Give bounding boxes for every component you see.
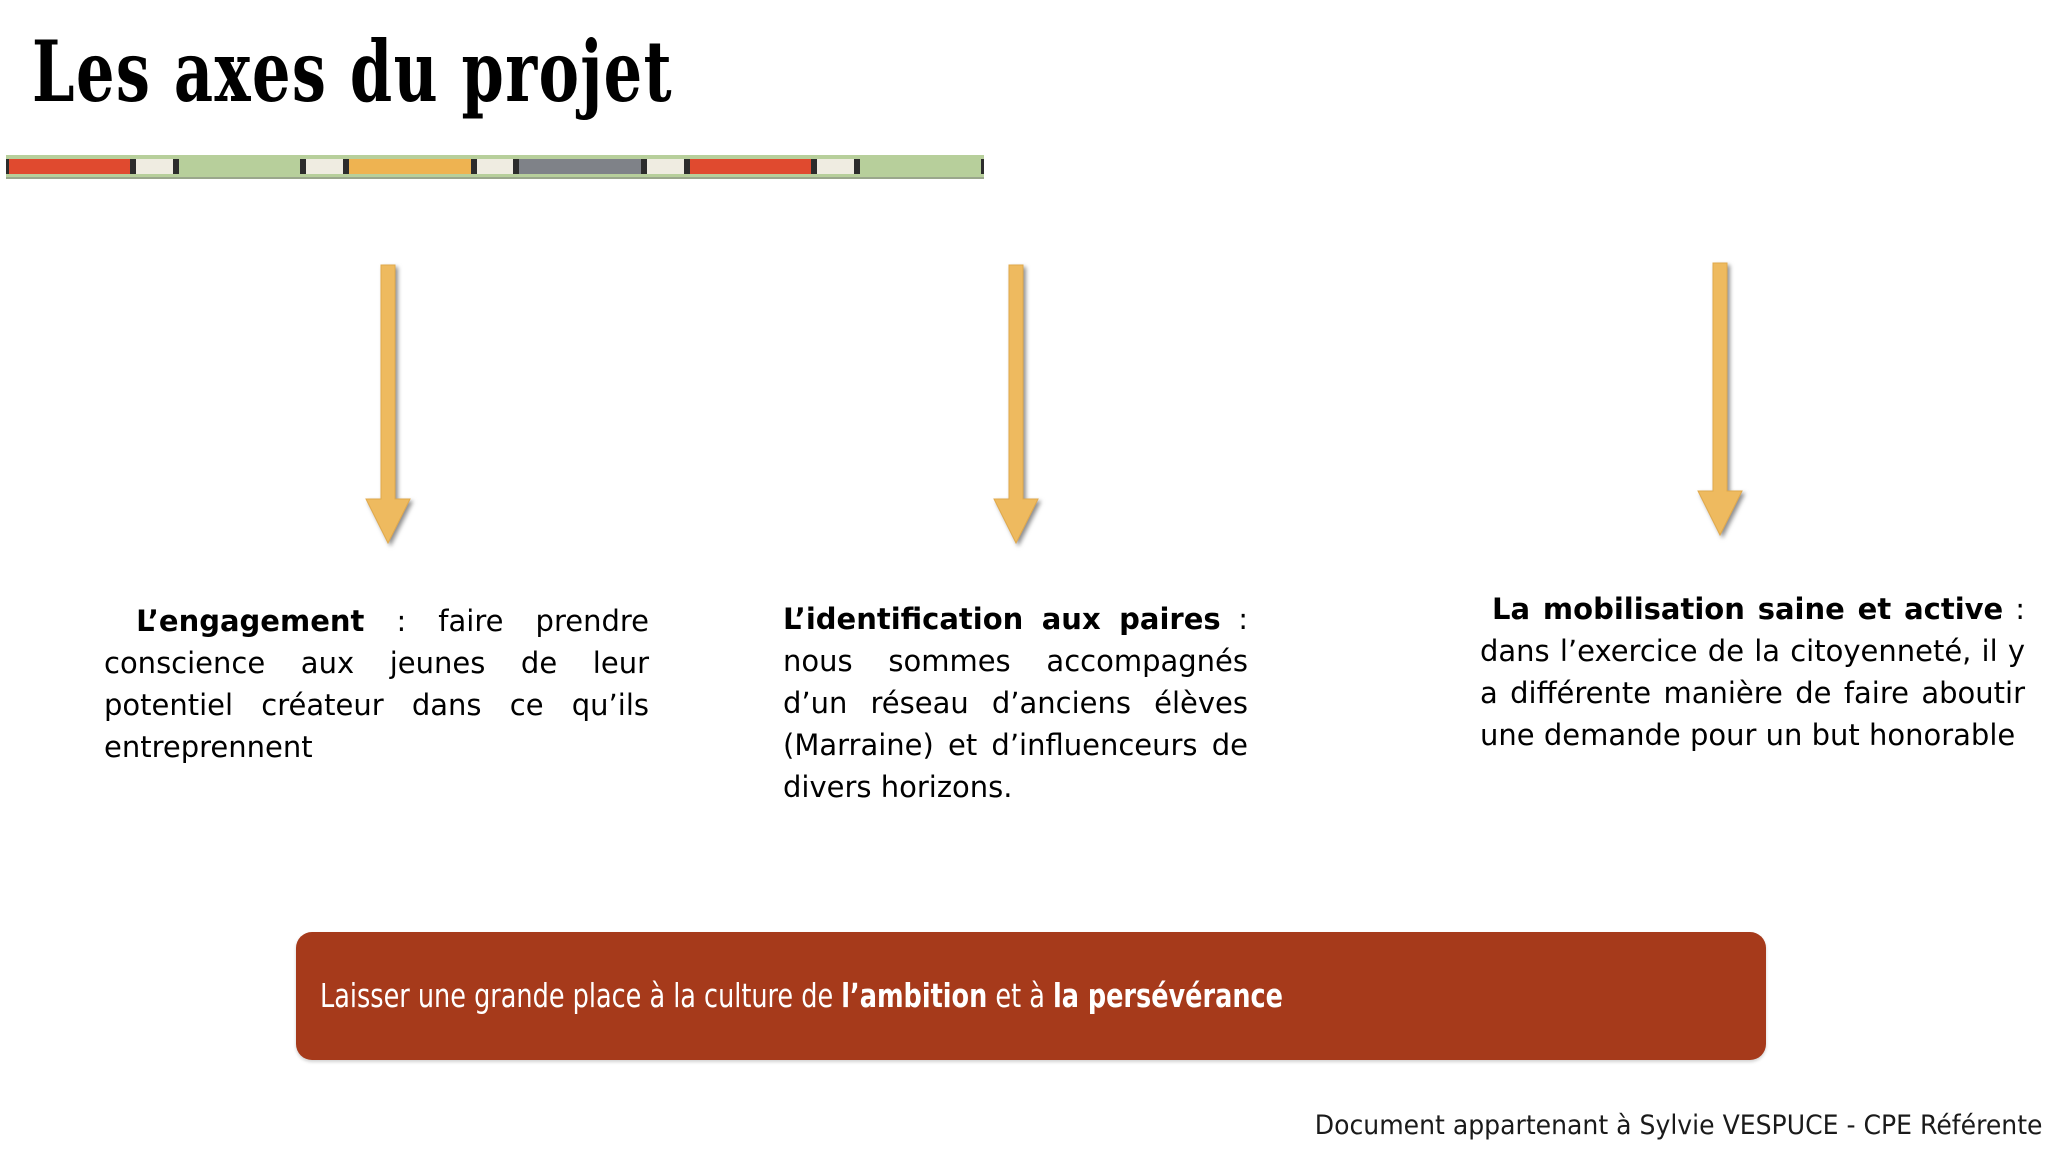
segmented-color-rule: [6, 155, 984, 181]
axis-identification-lead: L’identification aux paires: [783, 602, 1221, 636]
axis-engagement-lead: L’engagement: [136, 604, 364, 638]
rule-segment-1: [133, 159, 176, 174]
rule-segment-2: [176, 159, 303, 174]
arrow-down-engagement: [362, 265, 414, 551]
axis-mobilisation-separator: :: [2003, 592, 2025, 626]
page-title: Les axes du projet: [32, 22, 673, 122]
axis-identification-paragraph: L’identification aux paires : nous somme…: [783, 598, 1248, 808]
axis-mobilisation-paragraph: La mobilisation saine et active : dans l…: [1480, 588, 2025, 756]
rule-segment-9: [814, 159, 857, 174]
rule-segment-5: [474, 159, 517, 174]
footer-text: Document appartenant à Sylvie VESPUCE - …: [1314, 1108, 2042, 1144]
slide-canvas: Les axes du projet L’engagement : faire …: [0, 0, 2048, 1152]
arrow-down-engagement-glyph: [362, 265, 414, 551]
banner-emphasis-ambition: l’ambition: [841, 976, 987, 1015]
rule-segments: [6, 159, 984, 174]
key-message-banner: Laisser une grande place à la culture de…: [296, 932, 1766, 1060]
banner-emphasis-perseverance: la persévérance: [1053, 976, 1283, 1015]
axis-mobilisation-body: dans l’exercice de la citoyenneté, il y …: [1480, 634, 2025, 752]
rule-segment-6: [516, 159, 643, 174]
axis-engagement-paragraph: L’engagement : faire prendre conscience …: [104, 600, 649, 768]
footer-ownership-note: Document appartenant à Sylvie VESPUCE - …: [1260, 1108, 2043, 1144]
rule-segment-3: [303, 159, 346, 174]
banner-text-part2: et à: [987, 976, 1053, 1015]
banner-text-part1: Laisser une grande place à la culture de: [320, 976, 841, 1015]
key-message-text: Laisser une grande place à la culture de…: [320, 976, 1440, 1016]
axis-mobilisation-text: La mobilisation saine et active : dans l…: [1480, 588, 2025, 756]
axis-identification-text: L’identification aux paires : nous somme…: [783, 598, 1248, 808]
arrow-down-identification: [990, 265, 1042, 551]
axis-mobilisation-lead: La mobilisation saine et active: [1492, 592, 2003, 626]
axis-engagement-separator: :: [364, 604, 438, 638]
arrow-down-identification-glyph: [990, 265, 1042, 551]
arrow-down-mobilisation: [1694, 263, 1746, 543]
axis-identification-separator: :: [1221, 602, 1248, 636]
arrow-down-mobilisation-glyph: [1694, 263, 1746, 543]
rule-segment-4: [346, 159, 473, 174]
axis-engagement-text: L’engagement : faire prendre conscience …: [104, 600, 649, 768]
rule-segment-8: [687, 159, 814, 174]
rule-segment-10: [857, 159, 984, 174]
rule-segment-0: [6, 159, 133, 174]
axis-identification-body: nous sommes accompagnés d’un réseau d’an…: [783, 644, 1248, 804]
rule-segment-7: [644, 159, 687, 174]
